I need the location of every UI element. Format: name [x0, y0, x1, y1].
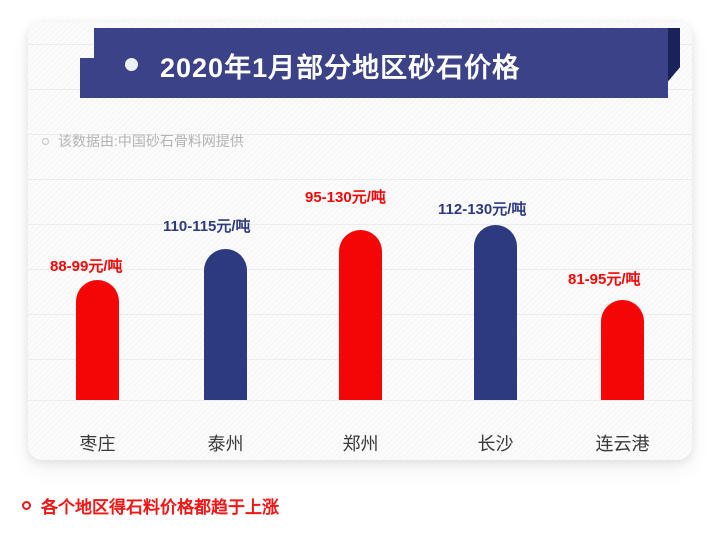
bar-value-label: 110-115元/吨	[163, 215, 251, 236]
source-note-text: 该数据由:中国砂石骨料网提供	[58, 131, 244, 151]
chart-page: 88-99元/吨枣庄110-115元/吨泰州95-130元/吨郑州112-130…	[0, 0, 720, 541]
category-label-郑州: 郑州	[317, 430, 404, 456]
bar-枣庄	[76, 280, 119, 400]
bar-value-label: 81-95元/吨	[568, 268, 641, 289]
category-label-连云港: 连云港	[579, 430, 666, 456]
bar-value-label: 88-99元/吨	[50, 255, 123, 276]
circle-outline-icon	[42, 138, 49, 145]
footer-note-text: 各个地区得石料价格都趋于上涨	[41, 493, 279, 518]
dot-icon	[125, 58, 138, 71]
bar-郑州	[339, 230, 382, 400]
page-title: 2020年1月部分地区砂石价格	[160, 46, 520, 85]
category-label-长沙: 长沙	[452, 430, 539, 456]
category-label-泰州: 泰州	[182, 430, 269, 456]
bar-长沙	[474, 225, 517, 400]
bar-value-label: 112-130元/吨	[438, 198, 526, 219]
title-banner: 2020年1月部分地区砂石价格	[80, 28, 680, 98]
circle-outline-icon	[22, 501, 31, 510]
source-note: 该数据由:中国砂石骨料网提供	[42, 131, 244, 151]
footer-note: 各个地区得石料价格都趋于上涨	[22, 493, 279, 518]
bar-连云港	[601, 300, 644, 400]
category-label-枣庄: 枣庄	[54, 430, 141, 456]
bar-泰州	[204, 249, 247, 400]
bar-value-label: 95-130元/吨	[305, 186, 386, 207]
